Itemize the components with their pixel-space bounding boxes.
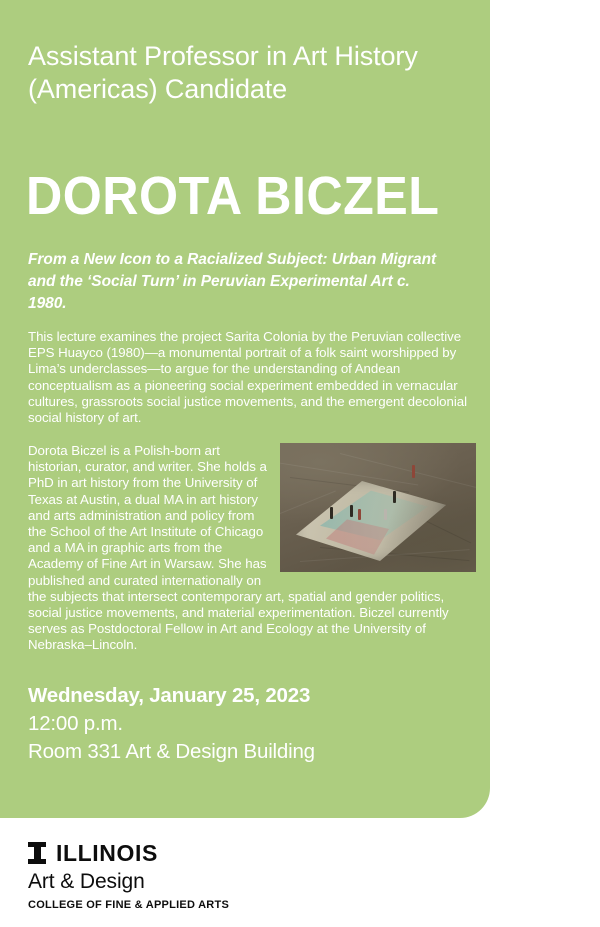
illinois-wordmark: ILLINOIS (56, 842, 158, 865)
artwork-photo (280, 443, 476, 572)
role-title: Assistant Professor in Art History (Amer… (28, 40, 438, 106)
slab-shadow (296, 481, 446, 561)
earthwork-slab (296, 481, 446, 561)
biography-block: Dorota Biczel is a Polish-born art histo… (28, 443, 476, 654)
lecture-abstract: This lecture examines the project Sarita… (28, 329, 476, 426)
block-i-icon (28, 842, 46, 864)
unit-name: Art & Design (28, 869, 328, 895)
event-location: Room 331 Art & Design Building (28, 738, 448, 766)
photo-figure (412, 465, 415, 478)
poster-content: Assistant Professor in Art History (Amer… (28, 0, 472, 818)
illinois-logo-row: ILLINOIS (28, 840, 328, 866)
photo-figure (393, 491, 396, 503)
event-date: Wednesday, January 25, 2023 (28, 682, 448, 710)
photo-figure (384, 509, 387, 520)
photo-figure (358, 509, 361, 520)
photo-figure (330, 507, 333, 519)
candidate-name: DOROTA BICZEL (26, 168, 439, 224)
college-name: COLLEGE OF FINE & APPLIED ARTS (28, 898, 328, 912)
event-details: Wednesday, January 25, 2023 12:00 p.m. R… (28, 682, 448, 766)
footer-logo: ILLINOIS Art & Design COLLEGE OF FINE & … (28, 840, 328, 912)
lecture-title: From a New Icon to a Racialized Subject:… (28, 249, 448, 315)
event-time: 12:00 p.m. (28, 710, 448, 738)
photo-figure (350, 505, 353, 517)
